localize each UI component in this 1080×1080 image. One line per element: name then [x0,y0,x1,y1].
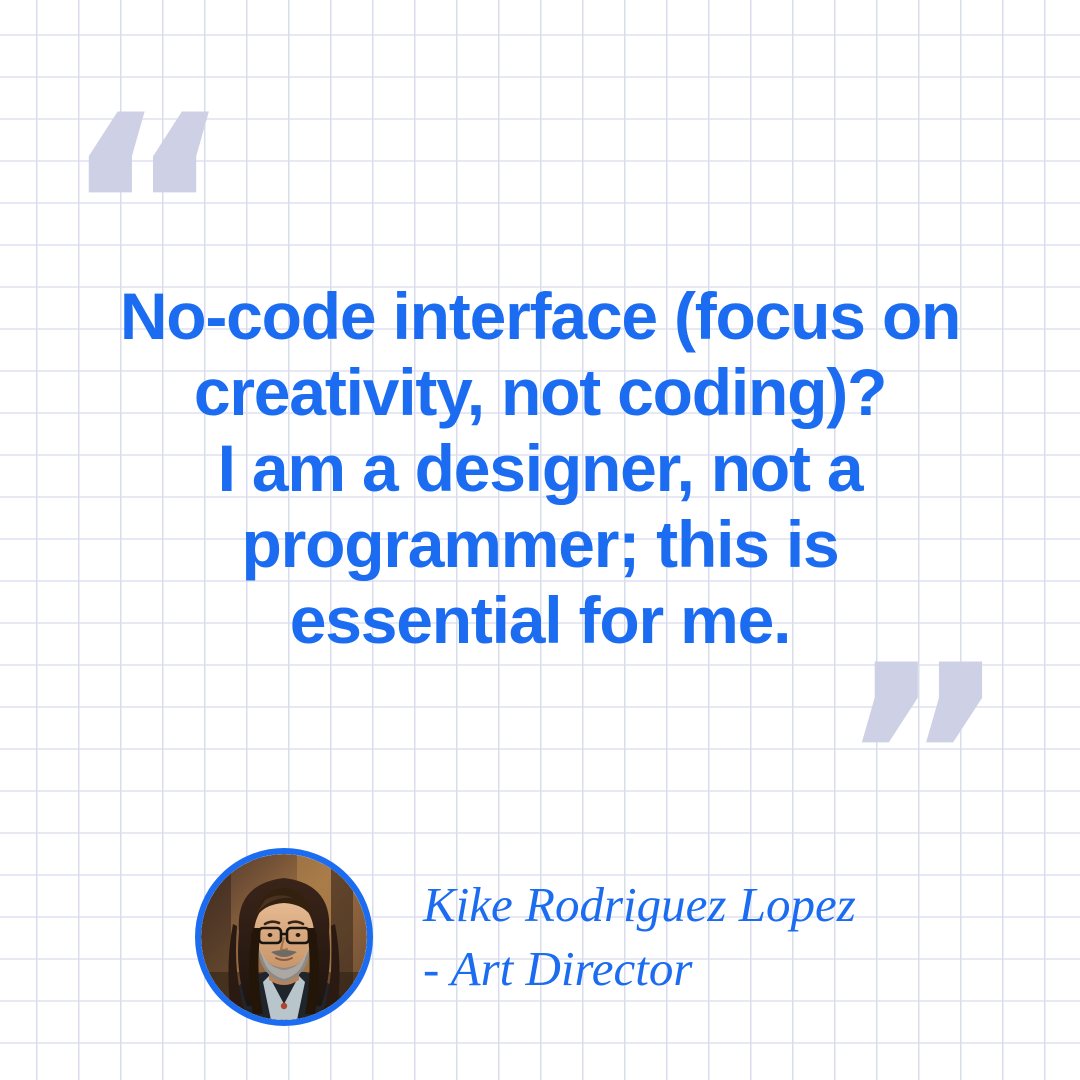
quote-line: essential for me. [50,582,1030,658]
author-role: - Art Director [423,937,856,1001]
avatar [195,848,373,1026]
author-name: Kike Rodriguez Lopez [423,873,856,937]
quote-line: I am a designer, not a [50,430,1030,506]
quote-text: No-code interface (focus on creativity, … [50,278,1030,658]
quote-line: programmer; this is [50,506,1030,582]
quote-line: creativity, not coding)? [50,354,1030,430]
quote-line: No-code interface (focus on [50,278,1030,354]
testimonial-card: “ ” No-code interface (focus on creativi… [0,0,1080,1080]
attribution-text: Kike Rodriguez Lopez - Art Director [423,873,856,1001]
attribution: Kike Rodriguez Lopez - Art Director [195,848,856,1026]
close-quote-icon: ” [838,632,1003,892]
avatar-photo [201,854,367,1020]
